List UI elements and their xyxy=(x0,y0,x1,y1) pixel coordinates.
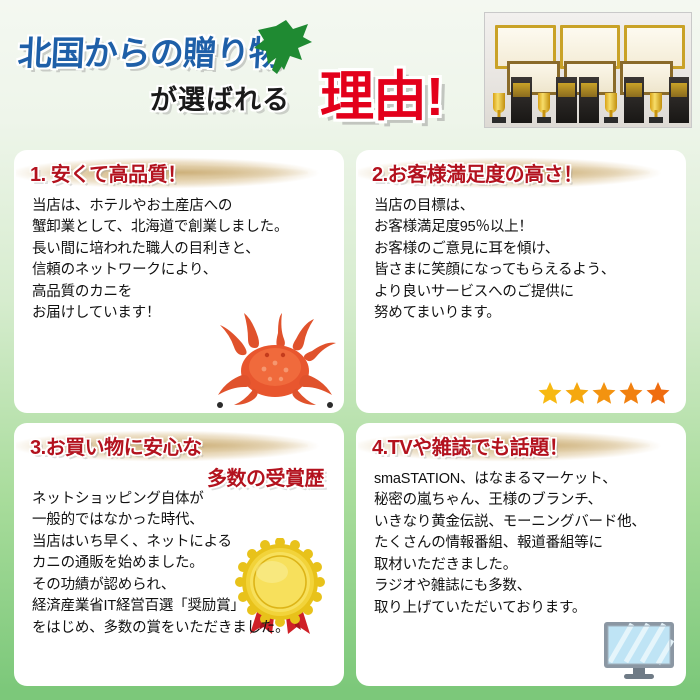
reason-panel-4: 4.TVや雑誌でも話題！ smaSTATION、はなまるマーケット、 秘密の嵐ち… xyxy=(356,423,686,686)
banner-header: 北国からの贈り物 が選ばれる 理由! xyxy=(0,0,700,140)
brand-logo-text: 北国からの贈り物 xyxy=(17,26,284,75)
reason-panel-2: 2.お客様満足度の高さ！ 当店の目標は、 お客様満足度95％以上！ お客様のご意… xyxy=(356,150,686,413)
brand-logo: 北国からの贈り物 xyxy=(18,22,318,84)
panel-3-heading-line2: 多数の受賞歴 xyxy=(30,462,330,491)
reason-panel-3: 3.お買い物に安心な 多数の受賞歴 ネットショッピング自体が 一般的ではなかった… xyxy=(14,423,344,686)
panel-4-heading: 4.TVや雑誌でも話題！ xyxy=(372,431,672,460)
subhead-text: が選ばれる xyxy=(150,78,290,117)
promo-banner: 北国からの贈り物 が選ばれる 理由! xyxy=(0,0,700,700)
panel-1-body: 当店は、ホテルやお土産店への 蟹卸業として、北海道で創業しました。 長い間に培わ… xyxy=(32,196,330,325)
reason-panel-1: 1. 安くて高品質！ 当店は、ホテルやお土産店への 蟹卸業として、北海道で創業し… xyxy=(14,150,344,413)
rating-stars xyxy=(538,381,670,405)
panel-3-body: ネットショッピング自体が 一般的ではなかった時代、 当店はいち早く、ネットによる… xyxy=(32,489,330,639)
star-icon xyxy=(592,381,616,405)
panel-3-heading: 3.お買い物に安心な xyxy=(30,431,330,460)
panel-2-heading: 2.お客様満足度の高さ！ xyxy=(372,158,672,187)
hokkaido-map-icon xyxy=(246,18,314,78)
reasons-grid: 1. 安くて高品質！ 当店は、ホテルやお土産店への 蟹卸業として、北海道で創業し… xyxy=(0,140,700,700)
panel-2-body: 当店の目標は、 お客様満足度95％以上！ お客様のご意見に耳を傾け、 皆さまに笑… xyxy=(374,196,672,325)
panel-1-heading: 1. 安くて高品質！ xyxy=(30,158,330,187)
tv-monitor-icon xyxy=(602,620,676,682)
awards-photo xyxy=(484,12,692,128)
crab-illustration xyxy=(212,313,338,413)
star-icon xyxy=(619,381,643,405)
reason-headline: 理由! xyxy=(320,52,443,131)
star-icon xyxy=(565,381,589,405)
star-icon xyxy=(538,381,562,405)
star-icon xyxy=(646,381,670,405)
panel-4-body: smaSTATION、はなまるマーケット、 秘密の嵐ちゃん、王様のブランチ、 い… xyxy=(374,469,672,619)
